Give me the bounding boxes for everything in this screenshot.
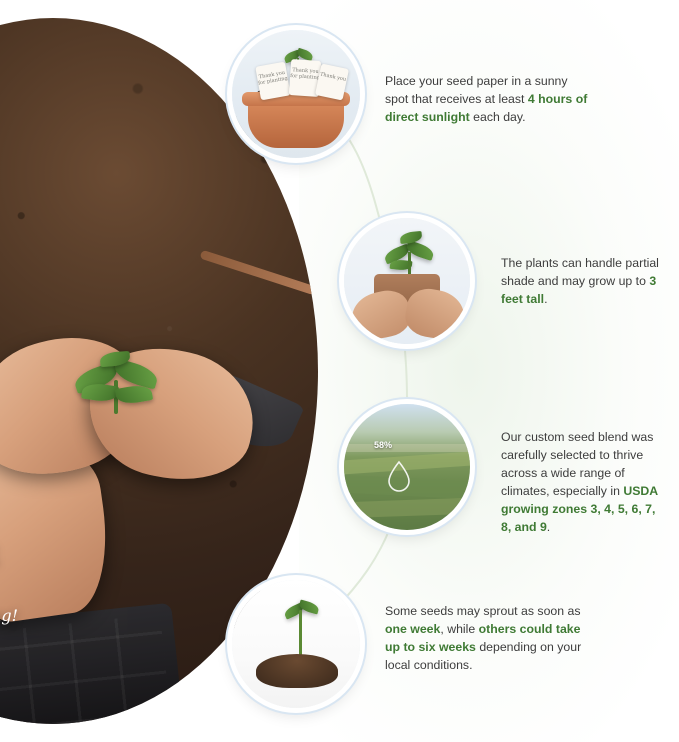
text-part: each day. bbox=[470, 110, 526, 124]
step-text-zones: Our custom seed blend was carefully sele… bbox=[501, 428, 664, 536]
right-hand bbox=[402, 285, 467, 342]
aerial-farmland-photo: 58% bbox=[344, 404, 470, 530]
seed-paper-pot-photo: Thank you for planting Thank you for pla… bbox=[232, 30, 360, 158]
field-strip bbox=[344, 444, 470, 452]
seedling-graphic bbox=[384, 232, 434, 280]
text-part: . bbox=[544, 292, 547, 306]
text-part: Some seeds may sprout as soon as bbox=[385, 604, 580, 618]
hero-footer-just: Just bbox=[0, 516, 22, 536]
terracotta-pot bbox=[248, 100, 344, 148]
step-text-sprout: Some seeds may sprout as soon as one wee… bbox=[385, 602, 590, 674]
step-text-sunlight: Place your seed paper in a sunny spot th… bbox=[385, 72, 590, 126]
hero-footer-text: Just bepatient blooms are coming! bbox=[0, 516, 22, 625]
step-image-shade[interactable] bbox=[344, 218, 470, 344]
highlight-text: one week bbox=[385, 622, 440, 636]
stem bbox=[299, 610, 302, 658]
hero-footer-blooms: blooms bbox=[0, 571, 22, 606]
field-strip bbox=[344, 498, 470, 518]
step-image-sprout[interactable] bbox=[232, 580, 360, 708]
sprout-graphic bbox=[284, 600, 318, 658]
planting-guide-infographic: Planting guide Just bepatient blooms are… bbox=[0, 0, 679, 742]
seed-paper-tag: Thank you for planting bbox=[255, 62, 290, 101]
humidity-value: 58% bbox=[374, 440, 392, 450]
step-image-sunlight[interactable]: Thank you for planting Thank you for pla… bbox=[232, 30, 360, 158]
text-part: . bbox=[547, 520, 550, 534]
leaf bbox=[399, 231, 422, 244]
soil-mound bbox=[256, 654, 338, 688]
text-part: The plants can handle partial shade and … bbox=[501, 256, 659, 288]
step-image-zones[interactable]: 58% bbox=[344, 404, 470, 530]
step-text-shade: The plants can handle partial shade and … bbox=[501, 254, 661, 308]
seed-paper-tag-text: Thank you for planting bbox=[290, 59, 321, 81]
seed-paper-tag-text: Thank you for planting bbox=[255, 62, 288, 87]
seed-paper-tag-text: Thank you bbox=[319, 63, 349, 83]
hero-footer-coming: are coming! bbox=[0, 606, 18, 625]
hands-holding-pot-photo bbox=[344, 218, 470, 344]
text-part: , while bbox=[440, 622, 478, 636]
seed-tray-bottom bbox=[0, 603, 183, 724]
hero-seedling bbox=[70, 350, 162, 420]
water-droplet-icon bbox=[386, 460, 412, 492]
sprout-in-soil-photo bbox=[232, 580, 360, 708]
